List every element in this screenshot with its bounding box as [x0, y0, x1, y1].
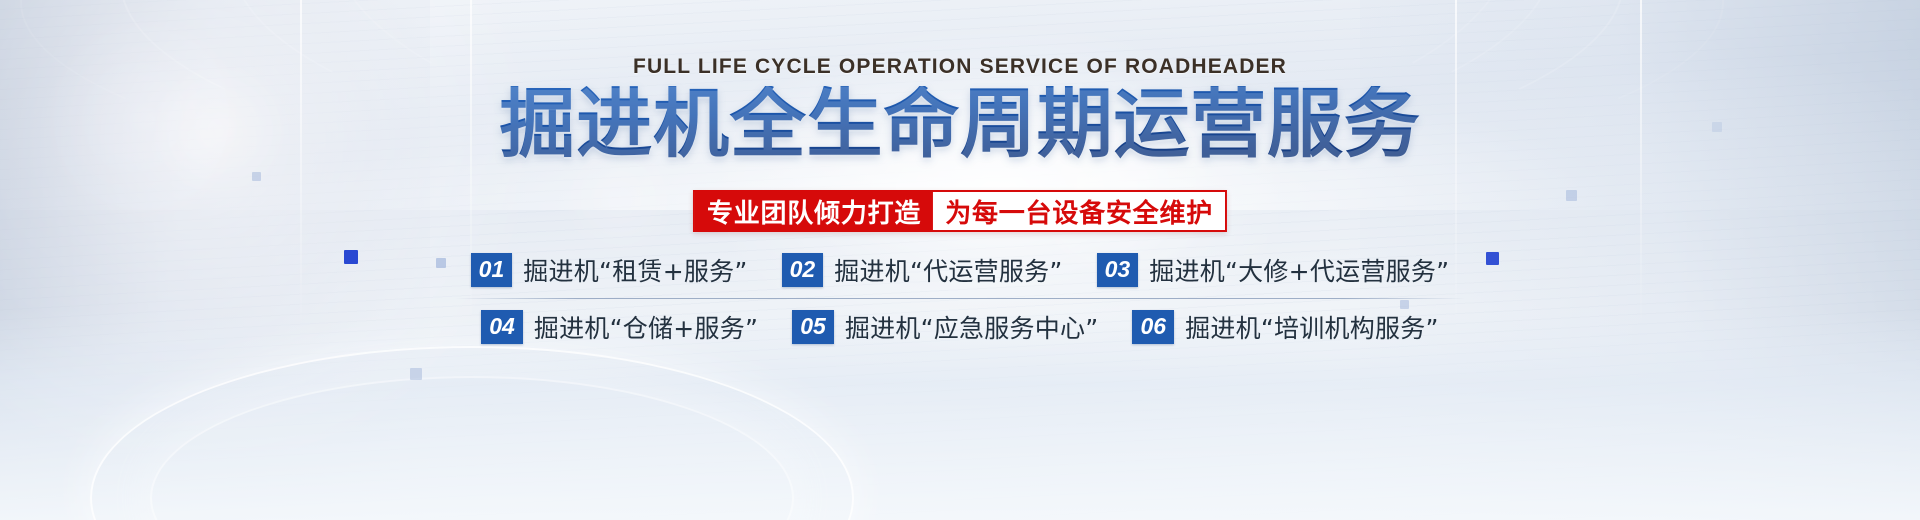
banner-content: FULL LIFE CYCLE OPERATION SERVICE OF ROA…	[0, 0, 1920, 520]
service-item-label: 掘进机“大修+代运营服务”	[1149, 252, 1449, 288]
service-item-number: 04	[481, 310, 523, 344]
service-item-label: 掘进机“仓储+服务”	[534, 309, 758, 345]
banner-eyebrow-english: FULL LIFE CYCLE OPERATION SERVICE OF ROA…	[0, 55, 1920, 79]
service-item-label: 掘进机“应急服务中心”	[845, 309, 1099, 345]
service-row-1: 01掘进机“租赁+服务”02掘进机“代运营服务”03掘进机“大修+代运营服务”	[430, 242, 1490, 298]
service-item-number: 02	[782, 253, 824, 287]
service-row-2: 04掘进机“仓储+服务”05掘进机“应急服务中心”06掘进机“培训机构服务”	[430, 299, 1490, 355]
service-item[interactable]: 05掘进机“应急服务中心”	[792, 309, 1098, 345]
tagline-ribbon-right: 为每一台设备安全维护	[933, 192, 1225, 230]
service-list: 01掘进机“租赁+服务”02掘进机“代运营服务”03掘进机“大修+代运营服务” …	[430, 242, 1490, 355]
banner-root: FULL LIFE CYCLE OPERATION SERVICE OF ROA…	[0, 0, 1920, 520]
tagline-ribbon-left: 专业团队倾力打造	[695, 192, 933, 230]
service-item-number: 01	[471, 253, 513, 287]
service-item[interactable]: 01掘进机“租赁+服务”	[471, 252, 748, 288]
service-item-number: 03	[1097, 253, 1139, 287]
service-item[interactable]: 06掘进机“培训机构服务”	[1132, 309, 1438, 345]
service-item[interactable]: 04掘进机“仓储+服务”	[481, 309, 758, 345]
service-item-label: 掘进机“培训机构服务”	[1185, 309, 1439, 345]
service-item-label: 掘进机“租赁+服务”	[523, 252, 747, 288]
service-item[interactable]: 03掘进机“大修+代运营服务”	[1097, 252, 1450, 288]
service-item-label: 掘进机“代运营服务”	[834, 252, 1062, 288]
banner-headline: 掘进机全生命周期运营服务	[0, 86, 1920, 162]
tagline-ribbon: 专业团队倾力打造 为每一台设备安全维护	[693, 190, 1227, 232]
service-item-number: 05	[792, 310, 834, 344]
service-item-number: 06	[1132, 310, 1174, 344]
service-item[interactable]: 02掘进机“代运营服务”	[782, 252, 1063, 288]
